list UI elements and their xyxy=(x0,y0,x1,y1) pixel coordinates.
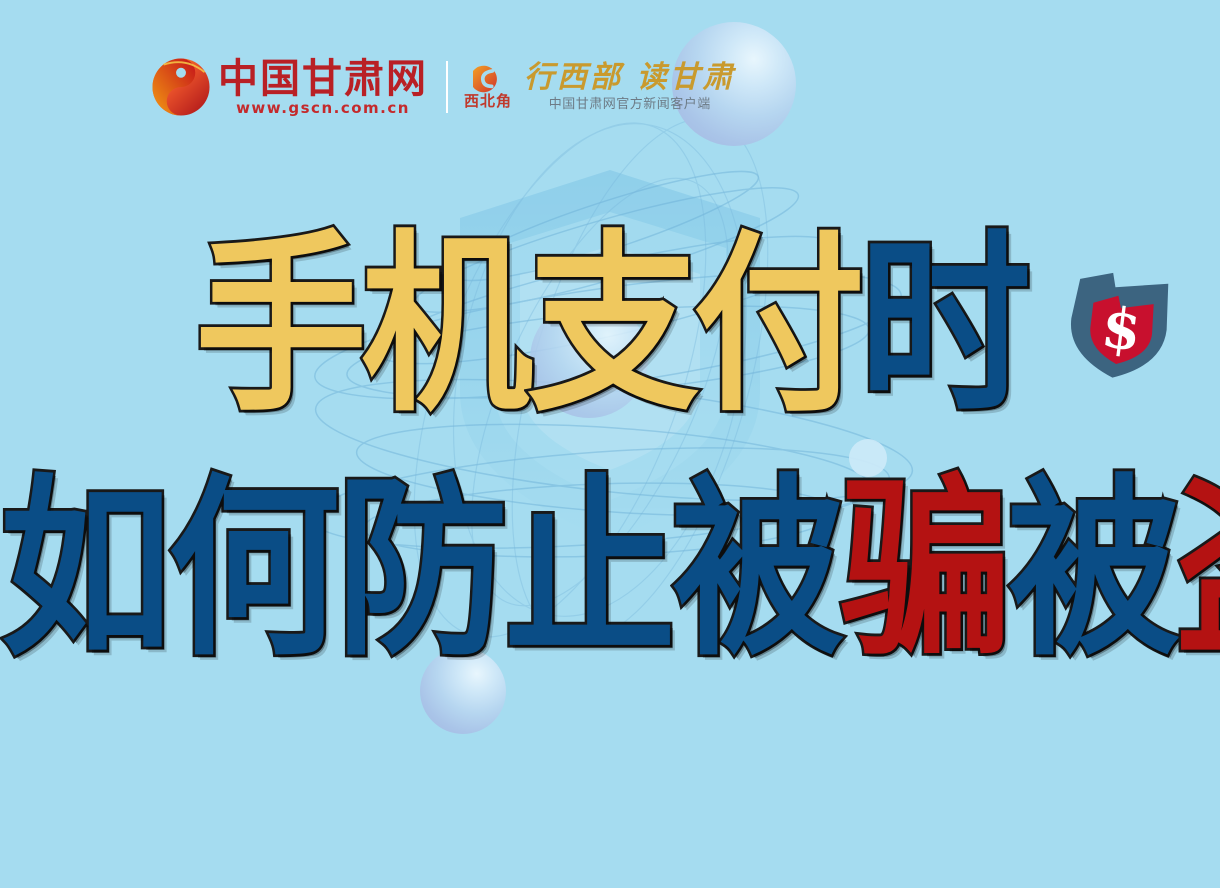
headline-1-char-1: 机 xyxy=(361,227,527,424)
headline-1-char-0: 手 xyxy=(195,227,361,424)
headline-2-char-3: 止 xyxy=(504,471,672,668)
headline-1-char-3: 付 xyxy=(693,227,859,424)
dollar-symbol: $ xyxy=(1098,294,1145,364)
headline-1-char-2: 支 xyxy=(527,227,693,424)
headline-2-char-6: 被 xyxy=(1008,471,1176,668)
headline-1-char-4: 时 xyxy=(859,227,1025,424)
logo-divider xyxy=(446,61,448,113)
background-art-svg xyxy=(0,0,1220,888)
app-mark-text: 西北角 xyxy=(464,93,512,110)
headline-2-char-2: 防 xyxy=(336,471,504,668)
money-shield-icon: $ xyxy=(1055,262,1183,386)
flame-drop-icon xyxy=(473,65,503,93)
headline-2-char-0: 如 xyxy=(0,471,168,668)
headline-line-1: 手机支付时 xyxy=(0,238,1220,414)
poster-canvas: 中国甘肃网 www.gscn.com.cn 西北角 xyxy=(0,0,1220,888)
headline-line-2: 如何防止被骗被盗 xyxy=(0,482,1220,658)
app-mark: 西北角 xyxy=(464,65,512,110)
yinyang-swirl-icon xyxy=(150,56,212,118)
headline-2-char-7: 盗 xyxy=(1176,471,1220,668)
gansu-net-logo[interactable]: 中国甘肃网 www.gscn.com.cn xyxy=(150,56,428,118)
app-slogan: 行西部 读甘肃 xyxy=(524,61,735,95)
app-logo[interactable]: 西北角 行西部 读甘肃 中国甘肃网官方新闻客户端 xyxy=(464,61,735,113)
headline-2-char-1: 何 xyxy=(168,471,336,668)
headline-2-char-5: 骗 xyxy=(840,471,1008,668)
app-sub-slogan: 中国甘肃网官方新闻客户端 xyxy=(549,97,711,113)
site-header-logo[interactable]: 中国甘肃网 www.gscn.com.cn 西北角 xyxy=(150,48,735,126)
brand-name-cn: 中国甘肃网 xyxy=(218,58,428,100)
headline-2-char-4: 被 xyxy=(672,471,840,668)
background-decoration xyxy=(0,0,1220,888)
brand-url: www.gscn.com.cn xyxy=(236,100,410,117)
